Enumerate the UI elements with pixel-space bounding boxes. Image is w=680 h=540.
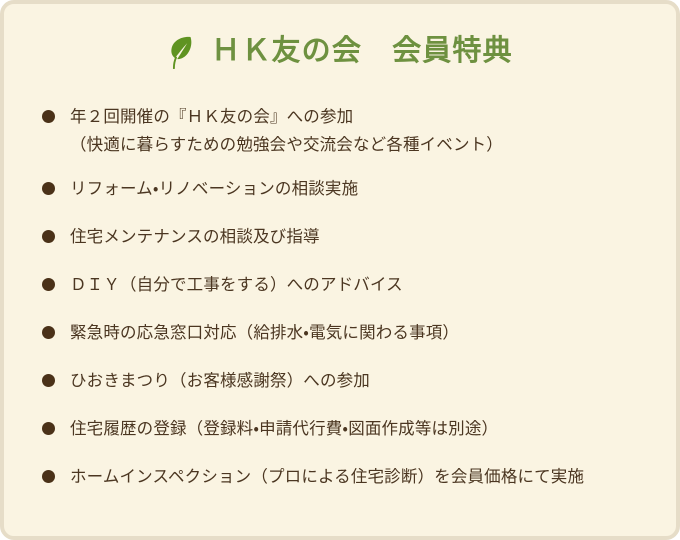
list-item: ひおきまつり（お客様感謝祭）への参加: [42, 367, 658, 395]
list-item-text: 住宅メンテナンスの相談及び指導: [70, 223, 658, 251]
bullet-icon: [42, 278, 55, 291]
bullet-icon: [42, 182, 55, 195]
list-item: 住宅履歴の登録（登録料・申請代行費・図面作成等は別途）: [42, 415, 658, 443]
list-item-text: ＤＩＹ（自分で工事をする）へのアドバイス: [70, 271, 658, 299]
page-title: ＨＫ友の会 会員特典: [211, 37, 513, 66]
membership-benefits-panel: ＨＫ友の会 会員特典 年２回開催の『ＨＫ友の会』への参加 （快適に暮らすための勉…: [0, 0, 680, 540]
list-item-text: ホームインスペクション（プロによる住宅診断）を会員価格にて実施: [70, 463, 658, 491]
benefits-list: 年２回開催の『ＨＫ友の会』への参加 （快適に暮らすための勉強会や交流会など各種イ…: [42, 103, 658, 511]
list-item-text: 住宅履歴の登録（登録料・申請代行費・図面作成等は別途）: [70, 415, 658, 443]
bullet-icon: [42, 470, 55, 483]
list-item: 緊急時の応急窓口対応（給排水・電気に関わる事項）: [42, 319, 658, 347]
list-item-text: 緊急時の応急窓口対応（給排水・電気に関わる事項）: [70, 319, 658, 347]
list-item: 住宅メンテナンスの相談及び指導: [42, 223, 658, 251]
list-item-text: リフォーム・リノベーションの相談実施: [70, 175, 658, 203]
list-item: リフォーム・リノベーションの相談実施: [42, 175, 658, 203]
list-item: ＤＩＹ（自分で工事をする）へのアドバイス: [42, 271, 658, 299]
list-item: 年２回開催の『ＨＫ友の会』への参加 （快適に暮らすための勉強会や交流会など各種イ…: [42, 103, 658, 159]
panel-header: ＨＫ友の会 会員特典: [4, 26, 676, 76]
bullet-icon: [42, 374, 55, 387]
bullet-icon: [42, 422, 55, 435]
list-item-subtext: （快適に暮らすための勉強会や交流会など各種イベント）: [70, 131, 658, 159]
list-item-text: ひおきまつり（お客様感謝祭）への参加: [70, 367, 658, 395]
leaf-icon: [167, 35, 193, 69]
list-item-text: 年２回開催の『ＨＫ友の会』への参加: [70, 103, 658, 131]
bullet-icon: [42, 230, 55, 243]
list-item: ホームインスペクション（プロによる住宅診断）を会員価格にて実施: [42, 463, 658, 491]
bullet-icon: [42, 326, 55, 339]
bullet-icon: [42, 110, 55, 123]
